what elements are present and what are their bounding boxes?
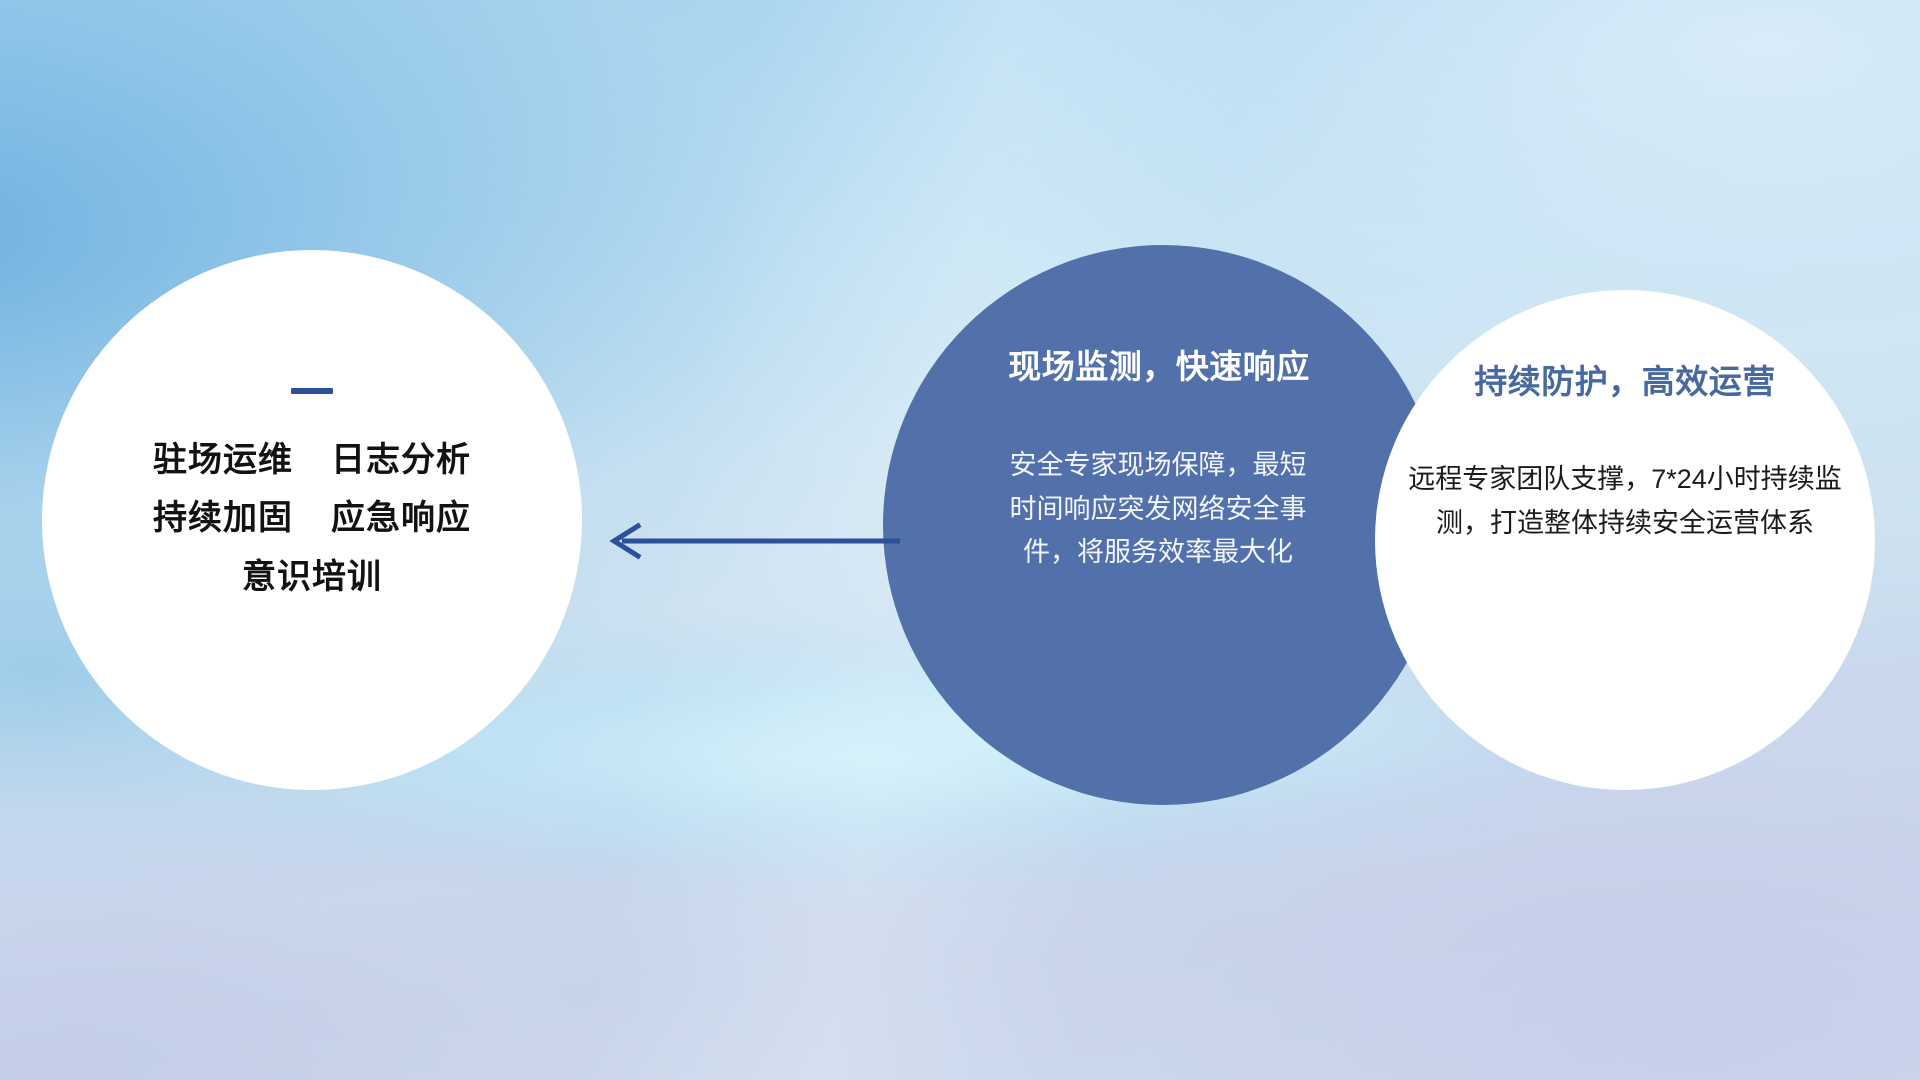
service-tag-list: 驻场运维 日志分析 持续加固 应急响应 意识培训 bbox=[153, 442, 471, 596]
middle-blue-circle bbox=[883, 245, 1443, 805]
list-item: 应急响应 bbox=[331, 500, 471, 537]
slide-canvas: 驻场运维 日志分析 持续加固 应急响应 意识培训 现场监测，快速响应 安全专家现… bbox=[0, 0, 1920, 1080]
table-row: 意识培训 bbox=[242, 559, 382, 596]
list-item: 驻场运维 bbox=[153, 442, 293, 479]
list-item: 意识培训 bbox=[242, 559, 382, 596]
flow-arrow-left bbox=[600, 516, 900, 566]
left-card-content: 驻场运维 日志分析 持续加固 应急响应 意识培训 bbox=[42, 250, 582, 790]
arrow-icon bbox=[600, 516, 900, 566]
accent-dash-divider bbox=[291, 388, 333, 394]
table-row: 驻场运维 日志分析 bbox=[153, 442, 471, 479]
list-item: 日志分析 bbox=[331, 442, 471, 479]
right-card-content: 持续防护，高效运营 远程专家团队支撑，7*24小时持续监测，打造整体持续安全运营… bbox=[1375, 290, 1875, 790]
list-item: 持续加固 bbox=[153, 500, 293, 537]
right-card-title: 持续防护，高效运营 bbox=[1474, 355, 1776, 403]
table-row: 持续加固 应急响应 bbox=[153, 500, 471, 537]
right-card-body: 远程专家团队支撑，7*24小时持续监测，打造整体持续安全运营体系 bbox=[1405, 458, 1845, 545]
